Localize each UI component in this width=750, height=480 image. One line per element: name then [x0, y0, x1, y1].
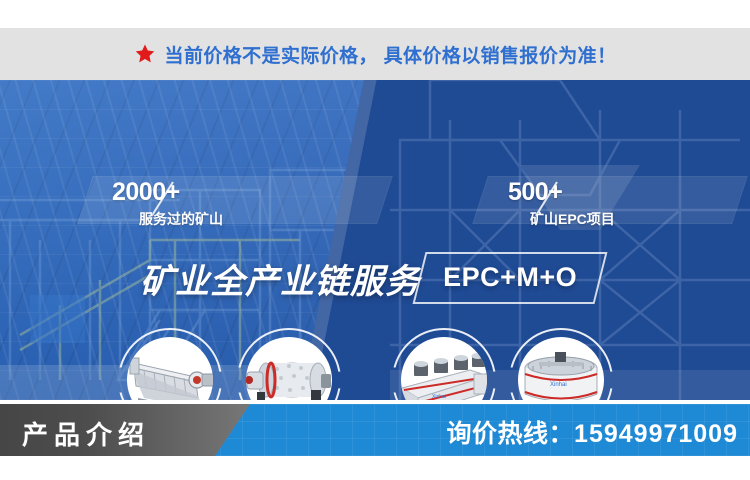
stat-epc-projects: 500+ 矿山EPC项目: [508, 180, 562, 205]
stat-mines-served: 2000+ 服务过的矿山: [112, 180, 180, 205]
hero-headline: 矿业全产业链服务: [140, 254, 420, 303]
stat-caption: 服务过的矿山: [139, 212, 223, 226]
product-spiral-classifier[interactable]: [118, 328, 222, 400]
hotline-block[interactable]: 询价热线：15949971009: [447, 414, 738, 450]
page-root: 当前价格不是实际价格， 具体价格以销售报价为准！: [0, 0, 750, 480]
hero-banner: 2000+ 服务过的矿山 500+ 矿山EPC项目 矿业全产业链服务 EPC+M…: [0, 80, 750, 400]
product-ball-mill[interactable]: [237, 328, 341, 400]
section-title: 产品介绍: [22, 415, 150, 452]
price-notice-bar: 当前价格不是实际价格， 具体价格以销售报价为准！: [0, 28, 750, 80]
price-notice-text: 当前价格不是实际价格， 具体价格以销售报价为准！: [165, 41, 617, 68]
product-flotation-machine[interactable]: Xinhai: [392, 328, 496, 400]
star-icon: [134, 43, 156, 65]
stat-caption: 矿山EPC项目: [530, 212, 615, 226]
epc-badge-label: EPC+M+O: [443, 262, 577, 293]
hotline-label: 询价热线：: [447, 420, 575, 448]
bottom-bar: 产品介绍 询价热线：15949971009: [0, 404, 750, 456]
product-thickener-tank[interactable]: Xinhai: [509, 328, 613, 400]
epc-badge: EPC+M+O: [413, 252, 608, 304]
hotline-number[interactable]: 15949971009: [574, 420, 738, 448]
